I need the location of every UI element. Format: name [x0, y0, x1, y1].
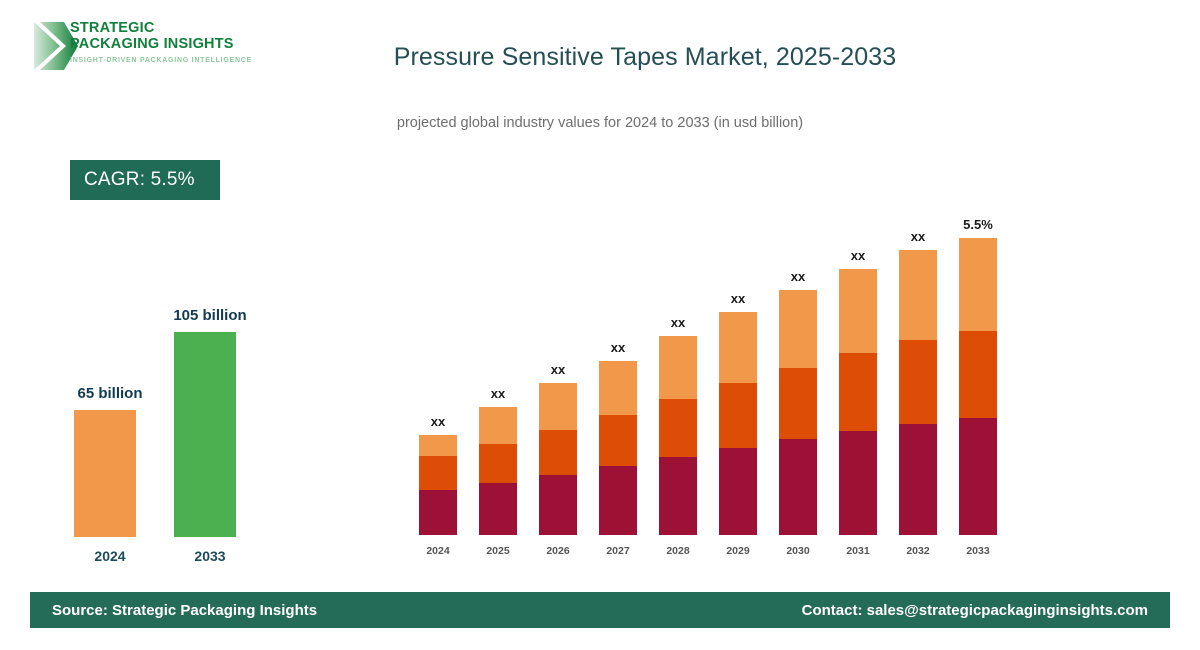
page-title: Pressure Sensitive Tapes Market, 2025-20… — [0, 43, 1200, 72]
stacked-bar — [899, 250, 937, 535]
stacked-bar-group: xx2032 — [888, 200, 948, 560]
stacked-bar-segment-segment-3 — [479, 407, 517, 444]
stacked-bar — [779, 290, 817, 535]
stacked-bar-group: xx2029 — [708, 200, 768, 560]
stacked-bar-segment-segment-2 — [899, 340, 937, 424]
stacked-bar-segment-segment-2 — [839, 353, 877, 431]
stacked-bar — [959, 238, 997, 535]
stacked-bar-segment-segment-2 — [719, 383, 757, 448]
stacked-bar-year-label: 2031 — [828, 545, 888, 557]
stacked-bar-value-label: xx — [648, 315, 708, 330]
comparison-bar-group: 65 billion2024 — [65, 300, 155, 570]
stacked-bar-year-label: 2029 — [708, 545, 768, 557]
stacked-bar-segment-segment-2 — [959, 331, 997, 418]
forecast-stacked-bar-chart: xx2024xx2025xx2026xx2027xx2028xx2029xx20… — [408, 200, 1008, 560]
stacked-bar-year-label: 2030 — [768, 545, 828, 557]
stacked-bar-segment-segment-1 — [659, 457, 697, 535]
stacked-bar — [539, 383, 577, 535]
stacked-bar-value-label: xx — [588, 340, 648, 355]
stacked-bar-group: xx2028 — [648, 200, 708, 560]
stacked-bar-segment-segment-2 — [599, 415, 637, 466]
stacked-bar-segment-segment-3 — [599, 361, 637, 415]
stacked-bar-segment-segment-1 — [719, 448, 757, 535]
footer-bar: Source: Strategic Packaging Insights Con… — [30, 592, 1170, 628]
comparison-bar-value-label: 65 billion — [65, 385, 155, 402]
comparison-bar-group: 105 billion2033 — [165, 300, 255, 570]
footer-source: Source: Strategic Packaging Insights — [52, 602, 317, 619]
stacked-bar-segment-segment-3 — [959, 238, 997, 331]
stacked-bar-group: xx2024 — [408, 200, 468, 560]
stacked-bar-group: xx2027 — [588, 200, 648, 560]
comparison-bar-year-label: 2024 — [65, 548, 155, 564]
stacked-bar-segment-segment-3 — [899, 250, 937, 340]
stacked-bar-segment-segment-3 — [539, 383, 577, 430]
stacked-bar-segment-segment-1 — [539, 475, 577, 535]
stacked-bar-year-label: 2027 — [588, 545, 648, 557]
stacked-bar-segment-segment-1 — [899, 424, 937, 535]
stacked-bar-group: 5.5%2033 — [948, 200, 1008, 560]
stacked-bar — [479, 407, 517, 535]
cagr-badge: CAGR: 5.5% — [70, 160, 220, 200]
stacked-bar-value-label: xx — [828, 248, 888, 263]
stacked-bar-segment-segment-1 — [419, 490, 457, 535]
stacked-bar — [599, 361, 637, 535]
stacked-bar-year-label: 2033 — [948, 545, 1008, 557]
stacked-bar-year-label: 2028 — [648, 545, 708, 557]
stacked-bar-segment-segment-1 — [779, 439, 817, 535]
cagr-badge-label: CAGR: 5.5% — [84, 169, 195, 191]
stacked-bar-group: xx2026 — [528, 200, 588, 560]
logo-line-1: STRATEGIC — [70, 20, 260, 36]
comparison-bar — [74, 410, 136, 537]
stacked-bar-year-label: 2024 — [408, 545, 468, 557]
stacked-bar-group: xx2030 — [768, 200, 828, 560]
stacked-bar — [719, 312, 757, 535]
stacked-bar-value-label: xx — [708, 291, 768, 306]
stacked-bar-group: xx2025 — [468, 200, 528, 560]
stacked-bar-segment-segment-3 — [719, 312, 757, 383]
stacked-bar-value-label: xx — [528, 362, 588, 377]
stacked-bar-segment-segment-1 — [839, 431, 877, 535]
stacked-bar — [839, 269, 877, 535]
stacked-bar-segment-segment-2 — [539, 430, 577, 475]
comparison-bar-chart: 65 billion2024105 billion2033 — [55, 300, 275, 570]
stacked-bar-segment-segment-3 — [419, 435, 457, 456]
stacked-bar — [419, 435, 457, 535]
comparison-bar-value-label: 105 billion — [165, 307, 255, 324]
comparison-bar — [174, 332, 236, 537]
stacked-bar-value-label: 5.5% — [948, 217, 1008, 232]
comparison-bar-year-label: 2033 — [165, 548, 255, 564]
stacked-bar-value-label: xx — [768, 269, 828, 284]
stacked-bar-segment-segment-2 — [479, 444, 517, 483]
stacked-bar-year-label: 2032 — [888, 545, 948, 557]
stacked-bar-segment-segment-3 — [779, 290, 817, 368]
stacked-bar-value-label: xx — [888, 229, 948, 244]
stacked-bar-segment-segment-1 — [959, 418, 997, 535]
stacked-bar-segment-segment-2 — [659, 399, 697, 457]
stacked-bar-segment-segment-1 — [599, 466, 637, 535]
stacked-bar-year-label: 2025 — [468, 545, 528, 557]
stacked-bar-segment-segment-2 — [419, 456, 457, 490]
stacked-bar-segment-segment-1 — [479, 483, 517, 535]
stacked-bar-value-label: xx — [408, 414, 468, 429]
stacked-bar-year-label: 2026 — [528, 545, 588, 557]
stacked-bar-segment-segment-3 — [659, 336, 697, 399]
stacked-bar-group: xx2031 — [828, 200, 888, 560]
stacked-bar-segment-segment-3 — [839, 269, 877, 353]
page-subtitle: projected global industry values for 202… — [0, 115, 1200, 131]
footer-contact: Contact: sales@strategicpackaginginsight… — [802, 602, 1148, 619]
stacked-bar — [659, 336, 697, 535]
stacked-bar-segment-segment-2 — [779, 368, 817, 439]
stacked-bar-value-label: xx — [468, 386, 528, 401]
